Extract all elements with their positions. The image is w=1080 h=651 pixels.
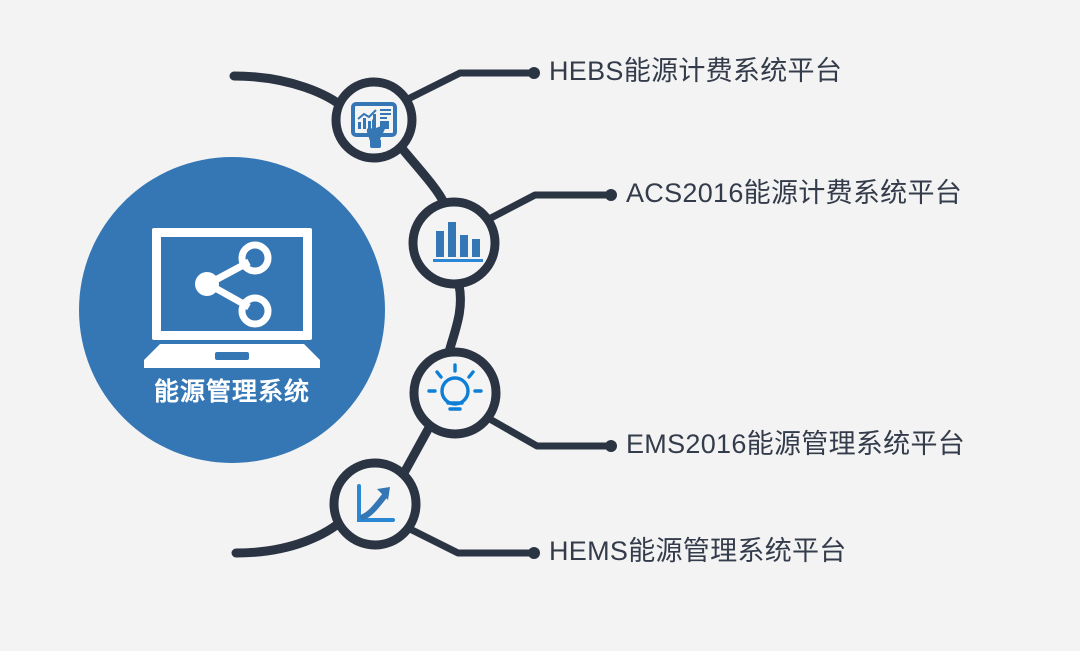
leader-dot-hebs (528, 67, 540, 79)
node-hems[interactable] (334, 463, 416, 545)
hub-caption: 能源管理系统 (92, 372, 372, 408)
leader-end-dots (528, 67, 617, 559)
leader-line-hebs (406, 73, 534, 100)
chain-segment-bottom-tail (236, 518, 345, 553)
leader-line-ems2016 (488, 418, 611, 446)
leader-dot-acs2016 (605, 189, 617, 201)
laptop-share-network-icon (144, 228, 320, 368)
leader-lines (406, 73, 611, 553)
chain-segment-top-tail (234, 76, 345, 109)
leader-dot-hems (528, 547, 540, 559)
leader-line-hems (408, 528, 534, 553)
chain-segment-ems-to-hems (404, 424, 431, 473)
label-acs2016[interactable]: ACS2016能源计费系统平台 (626, 180, 962, 207)
diagram-graphics (0, 0, 1080, 651)
chain-segment-hebs-to-acs (400, 146, 444, 203)
node-acs2016[interactable] (413, 202, 495, 284)
node-hebs[interactable] (336, 82, 412, 158)
diagram-canvas: 能源管理系统 HEBS能源计费系统平台 ACS2016能源计费系统平台 EMS2… (0, 0, 1080, 651)
label-hems[interactable]: HEMS能源管理系统平台 (549, 538, 847, 565)
leader-dot-ems2016 (605, 440, 617, 452)
leader-line-acs2016 (489, 195, 611, 219)
label-ems2016[interactable]: EMS2016能源管理系统平台 (626, 431, 965, 458)
hub-node[interactable] (79, 157, 385, 463)
node-ems2016[interactable] (414, 352, 496, 434)
label-hebs[interactable]: HEBS能源计费系统平台 (549, 58, 842, 85)
chain-segment-acs-to-ems (449, 285, 460, 352)
